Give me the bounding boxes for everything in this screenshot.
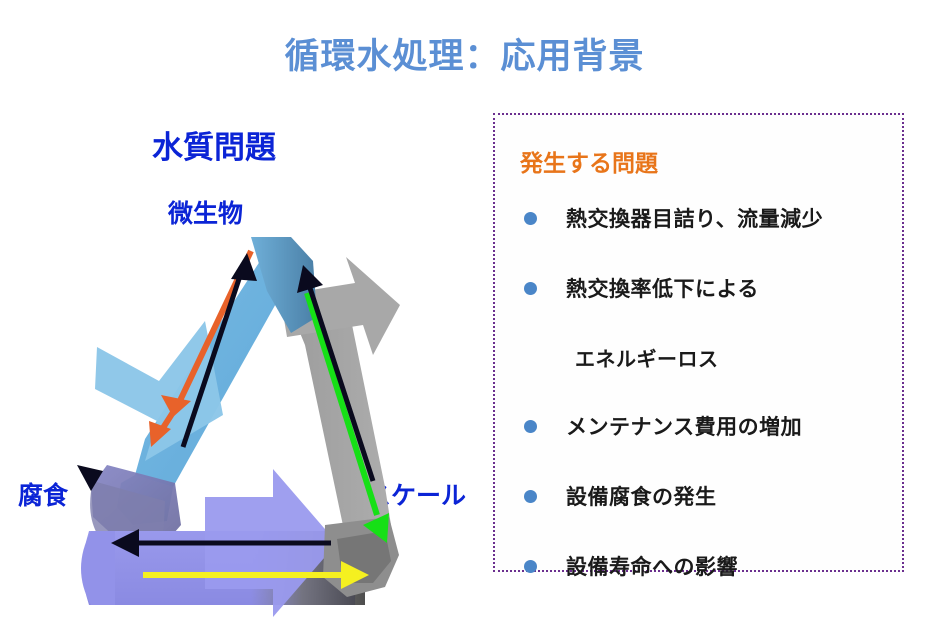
- problems-list: 熱交換器目詰り、流量減少 熱交換率低下による エネルギーロス メンテナンス費用の…: [495, 203, 906, 621]
- list-item-continuation: エネルギーロス: [495, 343, 906, 411]
- bullet-icon: [524, 420, 537, 433]
- water-quality-heading: 水質問題: [152, 122, 276, 167]
- page-title: 循環水処理：応用背景: [0, 28, 929, 79]
- water-quality-section: 水質問題 微生物 腐食 スケール: [0, 100, 480, 633]
- problems-panel: 発生する問題 熱交換器目詰り、流量減少 熱交換率低下による エネルギーロス メン…: [493, 113, 904, 572]
- list-item-label: メンテナンス費用の増加: [566, 411, 802, 441]
- cycle-triangle-diagram: [55, 225, 435, 625]
- bullet-icon: [524, 490, 537, 503]
- list-item: 熱交換率低下による: [495, 273, 906, 343]
- list-item: 熱交換器目詰り、流量減少: [495, 203, 906, 273]
- problems-panel-heading: 発生する問題: [520, 144, 658, 178]
- list-item: メンテナンス費用の増加: [495, 411, 906, 481]
- list-item: 設備寿命への影響: [495, 551, 906, 621]
- bullet-icon: [524, 282, 537, 295]
- list-item-label: 設備腐食の発生: [566, 481, 717, 511]
- list-item-label: 設備寿命への影響: [566, 551, 738, 581]
- bullet-icon: [524, 212, 537, 225]
- list-item-label: 熱交換器目詰り、流量減少: [566, 203, 823, 233]
- bullet-icon: [524, 560, 537, 573]
- list-item: 設備腐食の発生: [495, 481, 906, 551]
- list-item-label: 熱交換率低下による: [566, 273, 759, 303]
- list-item-label: エネルギーロス: [575, 343, 719, 372]
